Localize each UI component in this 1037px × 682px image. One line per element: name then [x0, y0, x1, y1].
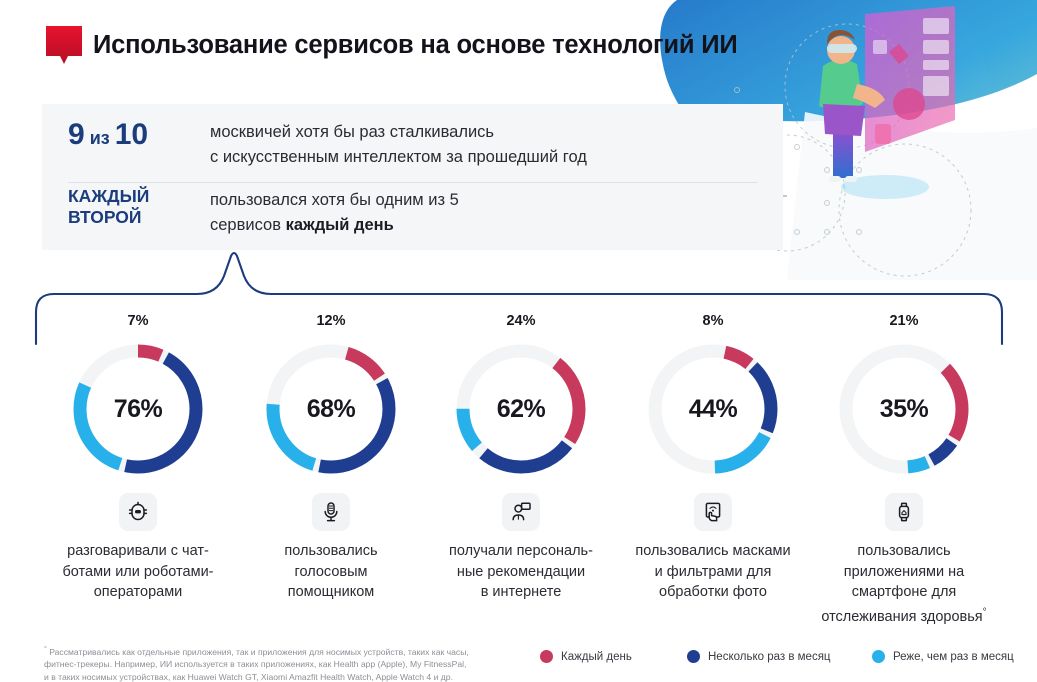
donut-center-5: 35%	[831, 336, 977, 482]
donut-top-label-2: 12%	[258, 313, 404, 329]
stat-text-2-bold: каждый день	[286, 216, 394, 234]
footnote-line-1: ° Рассматривались как отдельные приложен…	[44, 644, 514, 658]
stat-text-2-line-2: сервисов каждый день	[210, 213, 459, 238]
stat-text-1-line-2: с искусственным интеллектом за прошедший…	[210, 145, 587, 170]
donut-caption-3: получали персональ- ные рекомендации в и…	[426, 541, 616, 603]
stat-key-2-line-1: КАЖДЫЙ	[68, 186, 210, 207]
legend-label-3: Реже, чем раз в месяц	[893, 651, 1014, 663]
caption-line-with-footnote: отслеживания здоровья°	[809, 603, 999, 627]
donut-item-5: 21% 35%	[806, 336, 1002, 627]
footnote: ° Рассматривались как отдельные приложен…	[44, 644, 514, 682]
footnote-line-2: фитнес-трекеры. Например, ИИ используетс…	[44, 658, 514, 671]
stat-row-2: КАЖДЫЙ ВТОРОЙ пользовался хотя бы одним …	[42, 186, 783, 246]
caption-line: отслеживания здоровья	[821, 608, 982, 624]
infographic-root: Использование сервисов на основе техноло…	[0, 0, 1037, 682]
donut-item-2: 12% 68%	[233, 336, 429, 603]
caption-line: и фильтрами для	[618, 562, 808, 583]
donut-caption-4: пользовались масками и фильтрами для обр…	[618, 541, 808, 603]
donut-item-3: 24% 62%	[423, 336, 619, 603]
stat-key-1: 9 из 10	[42, 118, 210, 155]
stat-key-2: КАЖДЫЙ ВТОРОЙ	[42, 186, 210, 228]
footnote-marker: °	[983, 607, 987, 618]
caption-line: пользовались	[236, 541, 426, 562]
person-recommendation-icon	[502, 493, 540, 531]
donut-item-4: 8% 44%	[615, 336, 811, 603]
caption-line: ботами или роботами-	[43, 562, 233, 583]
donut-ring-5: 21% 35%	[831, 336, 977, 482]
stat-key-1-number-1: 9	[68, 118, 85, 151]
stat-row-1: 9 из 10 москвичей хотя бы раз сталкивали…	[42, 118, 783, 180]
legend-dot-icon	[540, 650, 553, 663]
donut-caption-5: пользовались приложениями на смартфоне д…	[809, 541, 999, 627]
caption-line: операторами	[43, 582, 233, 603]
microphone-icon	[312, 493, 350, 531]
caption-line: получали персональ-	[426, 541, 616, 562]
caption-line: пользовались масками	[618, 541, 808, 562]
caption-line: разговаривали с чат-	[43, 541, 233, 562]
caption-line: пользовались	[809, 541, 999, 562]
smartwatch-icon	[885, 493, 923, 531]
caption-line: в интернете	[426, 582, 616, 603]
legend-dot-icon	[687, 650, 700, 663]
caption-line: помощником	[236, 582, 426, 603]
phone-tap-icon	[694, 493, 732, 531]
legend: Каждый день Несколько раз в месяц Реже, …	[540, 650, 1020, 670]
footnote-text: Рассматривались как отдельные приложения…	[49, 647, 469, 657]
legend-item-1[interactable]: Каждый день	[540, 650, 632, 663]
legend-item-3[interactable]: Реже, чем раз в месяц	[872, 650, 1014, 663]
caption-line: смартфоне для	[809, 582, 999, 603]
stat-text-2-line-1: пользовался хотя бы одним из 5	[210, 188, 459, 213]
donut-top-label-5: 21%	[831, 313, 977, 329]
donut-center-3: 62%	[448, 336, 594, 482]
donut-center-1: 76%	[65, 336, 211, 482]
stat-key-1-number-2: 10	[115, 118, 148, 151]
donut-ring-2: 12% 68%	[258, 336, 404, 482]
legend-label-2: Несколько раз в месяц	[708, 651, 831, 663]
footnote-line-3: и в таких носимых устройствах, как Huawe…	[44, 671, 514, 682]
brace-connector	[34, 250, 1004, 346]
stat-text-2-prefix: сервисов	[210, 216, 286, 234]
donut-top-label-1: 7%	[65, 313, 211, 329]
donut-ring-4: 8% 44%	[640, 336, 786, 482]
donut-ring-3: 24% 62%	[448, 336, 594, 482]
donut-top-label-3: 24%	[448, 313, 594, 329]
page-title: Использование сервисов на основе техноло…	[93, 31, 738, 60]
legend-label-1: Каждый день	[561, 651, 632, 663]
footnote-marker: °	[44, 646, 47, 653]
stat-text-1: москвичей хотя бы раз сталкивались с иск…	[210, 118, 587, 170]
donut-center-4: 44%	[640, 336, 786, 482]
caption-line: голосовым	[236, 562, 426, 583]
stat-text-2: пользовался хотя бы одним из 5 сервисов …	[210, 186, 459, 238]
stat-text-1-line-1: москвичей хотя бы раз сталкивались	[210, 120, 587, 145]
stats-divider	[68, 182, 758, 183]
stats-panel: 9 из 10 москвичей хотя бы раз сталкивали…	[42, 104, 783, 250]
stat-key-2-line-2: ВТОРОЙ	[68, 207, 210, 228]
donut-center-2: 68%	[258, 336, 404, 482]
donut-chart-row: 7% 76%	[0, 336, 1037, 636]
caption-line: приложениями на	[809, 562, 999, 583]
logo-icon	[46, 26, 82, 70]
caption-line: обработки фото	[618, 582, 808, 603]
donut-item-1: 7% 76%	[40, 336, 236, 603]
legend-dot-icon	[872, 650, 885, 663]
caption-line: ные рекомендации	[426, 562, 616, 583]
donut-top-label-4: 8%	[640, 313, 786, 329]
robot-head-icon	[119, 493, 157, 531]
donut-caption-1: разговаривали с чат- ботами или роботами…	[43, 541, 233, 603]
legend-item-2[interactable]: Несколько раз в месяц	[687, 650, 831, 663]
donut-ring-1: 7% 76%	[65, 336, 211, 482]
stat-key-1-connector: из	[90, 128, 110, 148]
donut-caption-2: пользовались голосовым помощником	[236, 541, 426, 603]
